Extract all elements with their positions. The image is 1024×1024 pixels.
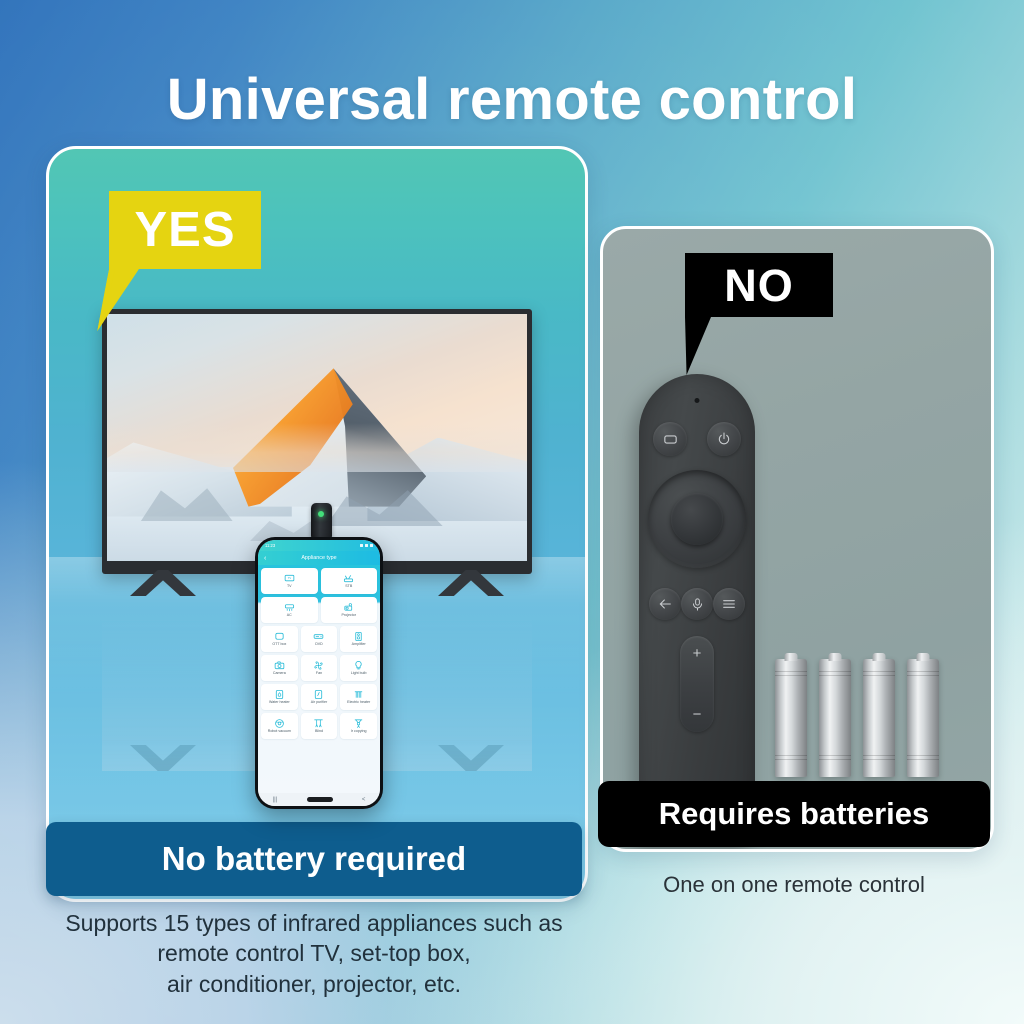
nav-back-icon[interactable]: <	[362, 797, 366, 803]
projector-icon	[343, 602, 354, 613]
physical-remote-control: + −	[639, 374, 755, 846]
appliance-row: TV TV STB	[261, 568, 377, 594]
phone-status-bar: 11:23	[258, 540, 380, 551]
no-badge: NO	[685, 253, 833, 317]
appliance-label: Water heater	[269, 701, 290, 705]
appliance-tile-dvd[interactable]: DVD	[301, 626, 338, 652]
ott-box-icon	[274, 631, 285, 642]
set-top-box-icon	[343, 573, 354, 584]
appliance-label: TV	[287, 585, 292, 589]
appliance-tile-tv[interactable]: TV TV	[261, 568, 318, 594]
battery-rings	[907, 671, 939, 679]
tv-icon: TV	[284, 573, 295, 584]
back-button[interactable]	[649, 588, 681, 620]
power-button[interactable]	[707, 422, 741, 456]
battery	[907, 659, 939, 777]
battery-terminal	[785, 653, 798, 661]
svg-text:TV: TV	[287, 576, 291, 580]
appliance-tile-fan[interactable]: Fan	[301, 655, 338, 681]
hamburger-menu-icon	[721, 596, 737, 612]
appliance-tile-ac[interactable]: AC	[261, 597, 318, 623]
appliance-tile-air-purifier[interactable]: Air purifier	[301, 684, 338, 710]
yes-badge-label: YES	[134, 206, 235, 255]
air-conditioner-icon	[284, 602, 295, 613]
power-icon	[716, 431, 732, 447]
tv-stand-reflection-left	[130, 745, 196, 771]
appliance-tile-stb[interactable]: STB	[321, 568, 378, 594]
smartphone: 11:23 ‹ Appliance type TV TV	[255, 537, 383, 809]
no-battery-required-label: No battery required	[162, 840, 466, 878]
no-panel: + − NO	[600, 226, 994, 852]
battery-rings	[863, 755, 895, 763]
battery-rings	[863, 671, 895, 679]
battery	[863, 659, 895, 777]
camera-icon	[274, 660, 285, 671]
appliance-tile-ott-box[interactable]: OTT box	[261, 626, 298, 652]
appliance-tile-amplifier[interactable]: Amplifier	[340, 626, 377, 652]
appliance-label: Blind	[315, 730, 323, 734]
appliance-row: Robot vacuum Blind	[261, 713, 377, 739]
battery-terminal	[829, 653, 842, 661]
appliance-tile-camera[interactable]: Camera	[261, 655, 298, 681]
left-caption-line: remote control TV, set-top box,	[32, 938, 596, 968]
appliance-label: Robot vacuum	[268, 730, 291, 734]
back-chevron-icon[interactable]: ‹	[264, 555, 266, 562]
light-bulb-icon	[353, 660, 364, 671]
battery-terminal	[917, 653, 930, 661]
recents-icon[interactable]: |||	[273, 797, 278, 803]
battery-rings	[907, 755, 939, 763]
battery-terminal	[873, 653, 886, 661]
battery	[775, 659, 807, 777]
fan-icon	[313, 660, 324, 671]
battery	[819, 659, 851, 777]
appliance-label: Ir copying	[351, 730, 367, 734]
appliance-label: Amplifier	[352, 643, 366, 647]
signal-icon	[360, 544, 364, 548]
appliance-tile-water-heater[interactable]: Water heater	[261, 684, 298, 710]
appliance-grid: TV TV STB	[258, 565, 380, 793]
battery-group	[775, 647, 975, 777]
tv-screen-icon	[662, 431, 679, 448]
microphone-hole-icon	[695, 398, 700, 403]
appliance-label: Air purifier	[311, 701, 327, 705]
appliance-label: OTT box	[272, 643, 286, 647]
microphone-icon	[690, 597, 705, 612]
battery-rings	[775, 755, 807, 763]
tv-input-button[interactable]	[653, 422, 687, 456]
left-caption-line: air conditioner, projector, etc.	[32, 969, 596, 999]
battery-icon	[370, 544, 374, 548]
phone-screen: 11:23 ‹ Appliance type TV TV	[258, 540, 380, 806]
tv-stand-reflection-right	[438, 745, 504, 771]
appliance-label: AC	[287, 614, 292, 618]
voice-button[interactable]	[681, 588, 713, 620]
air-purifier-icon	[313, 689, 324, 700]
app-title: Appliance type	[258, 555, 380, 561]
appliance-label: Camera	[273, 672, 286, 676]
page-title: Universal remote control	[0, 66, 1024, 133]
phone-nav-bar: ||| <	[258, 793, 380, 806]
battery-rings	[775, 671, 807, 679]
appliance-label: Light bulb	[351, 672, 367, 676]
arrow-left-icon	[657, 596, 673, 612]
volume-up-label[interactable]: +	[693, 646, 702, 661]
requires-batteries-banner: Requires batteries	[598, 781, 990, 847]
dpad-select-button[interactable]	[671, 493, 723, 545]
water-heater-icon	[274, 689, 285, 700]
directional-pad[interactable]	[648, 470, 746, 568]
appliance-tile-blind[interactable]: Blind	[301, 713, 338, 739]
dvd-player-icon	[313, 631, 324, 642]
appliance-tile-ir-copying[interactable]: Ir copying	[340, 713, 377, 739]
ir-copying-icon	[353, 718, 364, 729]
no-badge-label: NO	[724, 263, 794, 308]
appliance-label: DVD	[315, 643, 323, 647]
yes-badge: YES	[109, 191, 261, 269]
appliance-row: AC Projector	[261, 597, 377, 623]
appliance-label: Fan	[316, 672, 322, 676]
infrared-blaster-dongle	[311, 503, 332, 539]
battery-rings	[819, 755, 851, 763]
app-header: ‹ Appliance type	[258, 551, 380, 565]
no-battery-required-banner: No battery required	[46, 822, 582, 896]
appliance-tile-electric-heater[interactable]: Electric heater	[340, 684, 377, 710]
appliance-tile-projector[interactable]: Projector	[321, 597, 378, 623]
electric-heater-icon	[353, 689, 364, 700]
robot-vacuum-icon	[274, 718, 285, 729]
appliance-tile-robot-vacuum[interactable]: Robot vacuum	[261, 713, 298, 739]
appliance-tile-light-bulb[interactable]: Light bulb	[340, 655, 377, 681]
battery-rings	[819, 671, 851, 679]
window-blind-icon	[313, 718, 324, 729]
appliance-label: Projector	[342, 614, 356, 618]
amplifier-icon	[353, 631, 364, 642]
home-indicator-icon[interactable]	[307, 797, 333, 802]
atmospheric-haze	[107, 423, 527, 472]
requires-batteries-label: Requires batteries	[659, 796, 930, 832]
appliance-row: OTT box DVD Amplifier	[261, 626, 377, 652]
appliance-row: Camera Fan	[261, 655, 377, 681]
led-indicator-icon	[318, 511, 324, 517]
left-caption: Supports 15 types of infrared appliances…	[32, 908, 596, 999]
appliance-row: Water heater Air purifier	[261, 684, 377, 710]
appliance-label: Electric heater	[347, 701, 370, 705]
menu-button[interactable]	[713, 588, 745, 620]
volume-rocker[interactable]: + −	[680, 636, 714, 732]
status-bar-icons	[360, 544, 374, 548]
appliance-label: STB	[345, 585, 352, 589]
left-caption-line: Supports 15 types of infrared appliances…	[32, 908, 596, 938]
status-bar-time: 11:23	[265, 543, 275, 548]
right-caption: One on one remote control	[598, 872, 990, 898]
wifi-icon	[365, 544, 369, 548]
no-badge-tail	[685, 317, 711, 375]
volume-down-label[interactable]: −	[693, 707, 702, 722]
